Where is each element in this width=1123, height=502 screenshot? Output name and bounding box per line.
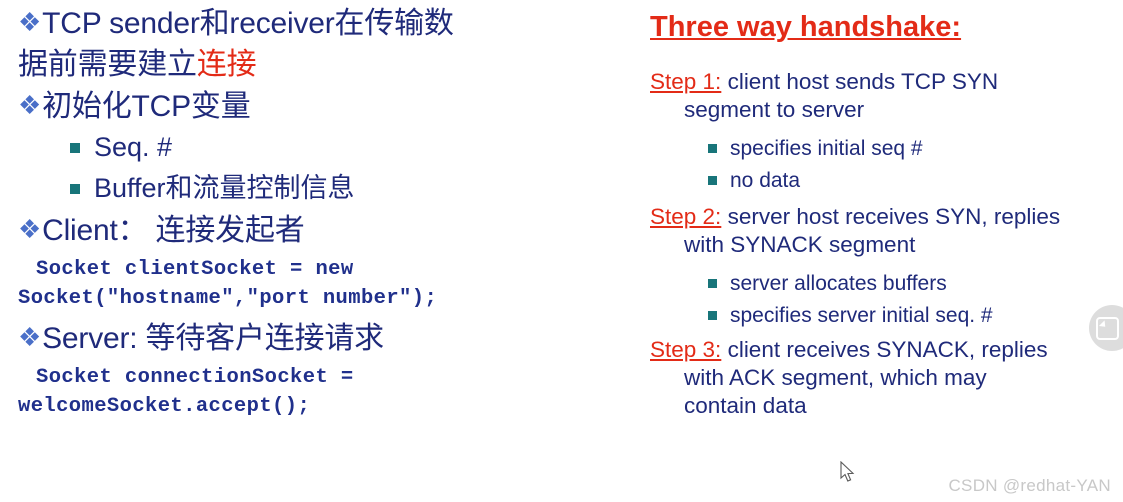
square-bullet-icon	[70, 184, 80, 194]
bullet-tcp-sender-receiver: ❖TCP sender和receiver在传输数 据前需要建立连接	[18, 2, 598, 85]
bullet-server: ❖Server: 等待客户连接请求	[18, 317, 598, 359]
square-bullet-icon	[708, 144, 717, 153]
step-2-sub-2: specifies server initial seq. #	[650, 300, 1118, 332]
bullet-line-2-highlight: 连接	[197, 48, 257, 81]
code-line: Socket clientSocket = new	[18, 255, 598, 284]
step-1-label: Step 1:	[650, 69, 721, 94]
watermark-text: CSDN @redhat-YAN	[948, 476, 1111, 496]
subbullet-label: server allocates buffers	[730, 272, 947, 295]
code-line: Socket("hostname","port number");	[18, 284, 598, 313]
slide-canvas: ❖TCP sender和receiver在传输数 据前需要建立连接 ❖初始化TC…	[0, 0, 1123, 502]
subbullet-label: specifies initial seq #	[730, 137, 923, 160]
subbullet-label: Buffer和流量控制信息	[94, 173, 355, 203]
bullet-client: ❖Client： 连接发起者	[18, 209, 598, 251]
bullet-label: Server: 等待客户连接请求	[42, 322, 384, 355]
step-2-label: Step 2:	[650, 204, 721, 229]
step-3-text-line3: contain data	[650, 392, 1118, 420]
step-1-sub-2: no data	[650, 165, 1118, 197]
bullet-init-tcp-vars: ❖初始化TCP变量	[18, 85, 598, 127]
square-bullet-icon	[708, 311, 717, 320]
code-block-client: Socket clientSocket = new Socket("hostna…	[18, 255, 598, 313]
step-3-label: Step 3:	[650, 337, 721, 362]
step-1-text-line1: client host sends TCP SYN	[721, 69, 998, 94]
subbullet-label: no data	[730, 169, 800, 192]
code-block-server: Socket connectionSocket = welcomeSocket.…	[18, 363, 598, 421]
bullet-label: 初始化TCP变量	[42, 90, 250, 123]
step-2-block: Step 2: server host receives SYN, replie…	[650, 203, 1118, 259]
left-column: ❖TCP sender和receiver在传输数 据前需要建立连接 ❖初始化TC…	[18, 2, 598, 421]
subbullet-seq-number: Seq. #	[70, 127, 598, 168]
bullet-label: Client： 连接发起者	[42, 214, 304, 247]
step-3-text-line1: client receives SYNACK, replies	[721, 337, 1047, 362]
bullet-line-1: TCP sender和receiver在传输数	[42, 7, 454, 40]
step-1-sub-1: specifies initial seq #	[650, 133, 1118, 165]
right-column: Three way handshake: Step 1: client host…	[650, 8, 1118, 429]
diamond-bullet-icon: ❖	[18, 209, 41, 250]
code-line: welcomeSocket.accept();	[18, 392, 598, 421]
subbullet-label: specifies server initial seq. #	[730, 304, 993, 327]
code-line: Socket connectionSocket =	[18, 363, 598, 392]
step-3-text-line2: with ACK segment, which may	[650, 364, 1118, 392]
mouse-cursor-icon	[840, 461, 856, 483]
step-2-text-line1: server host receives SYN, replies	[721, 204, 1060, 229]
diamond-bullet-icon: ❖	[18, 2, 41, 43]
step-1-block: Step 1: client host sends TCP SYN segmen…	[650, 68, 1118, 124]
step-2-sub-1: server allocates buffers	[650, 268, 1118, 300]
subbullet-label: Seq. #	[94, 132, 172, 162]
diamond-bullet-icon: ❖	[18, 85, 41, 126]
step-1-text-line2: segment to server	[650, 96, 1118, 124]
square-bullet-icon	[708, 176, 717, 185]
right-column-heading: Three way handshake:	[650, 8, 1118, 46]
step-2-text-line2: with SYNACK segment	[650, 231, 1118, 259]
expand-window-icon	[1096, 317, 1119, 340]
bullet-line-2-plain: 据前需要建立	[18, 48, 197, 81]
subbullet-buffer-flow-control: Buffer和流量控制信息	[70, 168, 598, 209]
step-3-block: Step 3: client receives SYNACK, replies …	[650, 336, 1118, 420]
diamond-bullet-icon: ❖	[18, 317, 41, 358]
square-bullet-icon	[70, 143, 80, 153]
square-bullet-icon	[708, 279, 717, 288]
